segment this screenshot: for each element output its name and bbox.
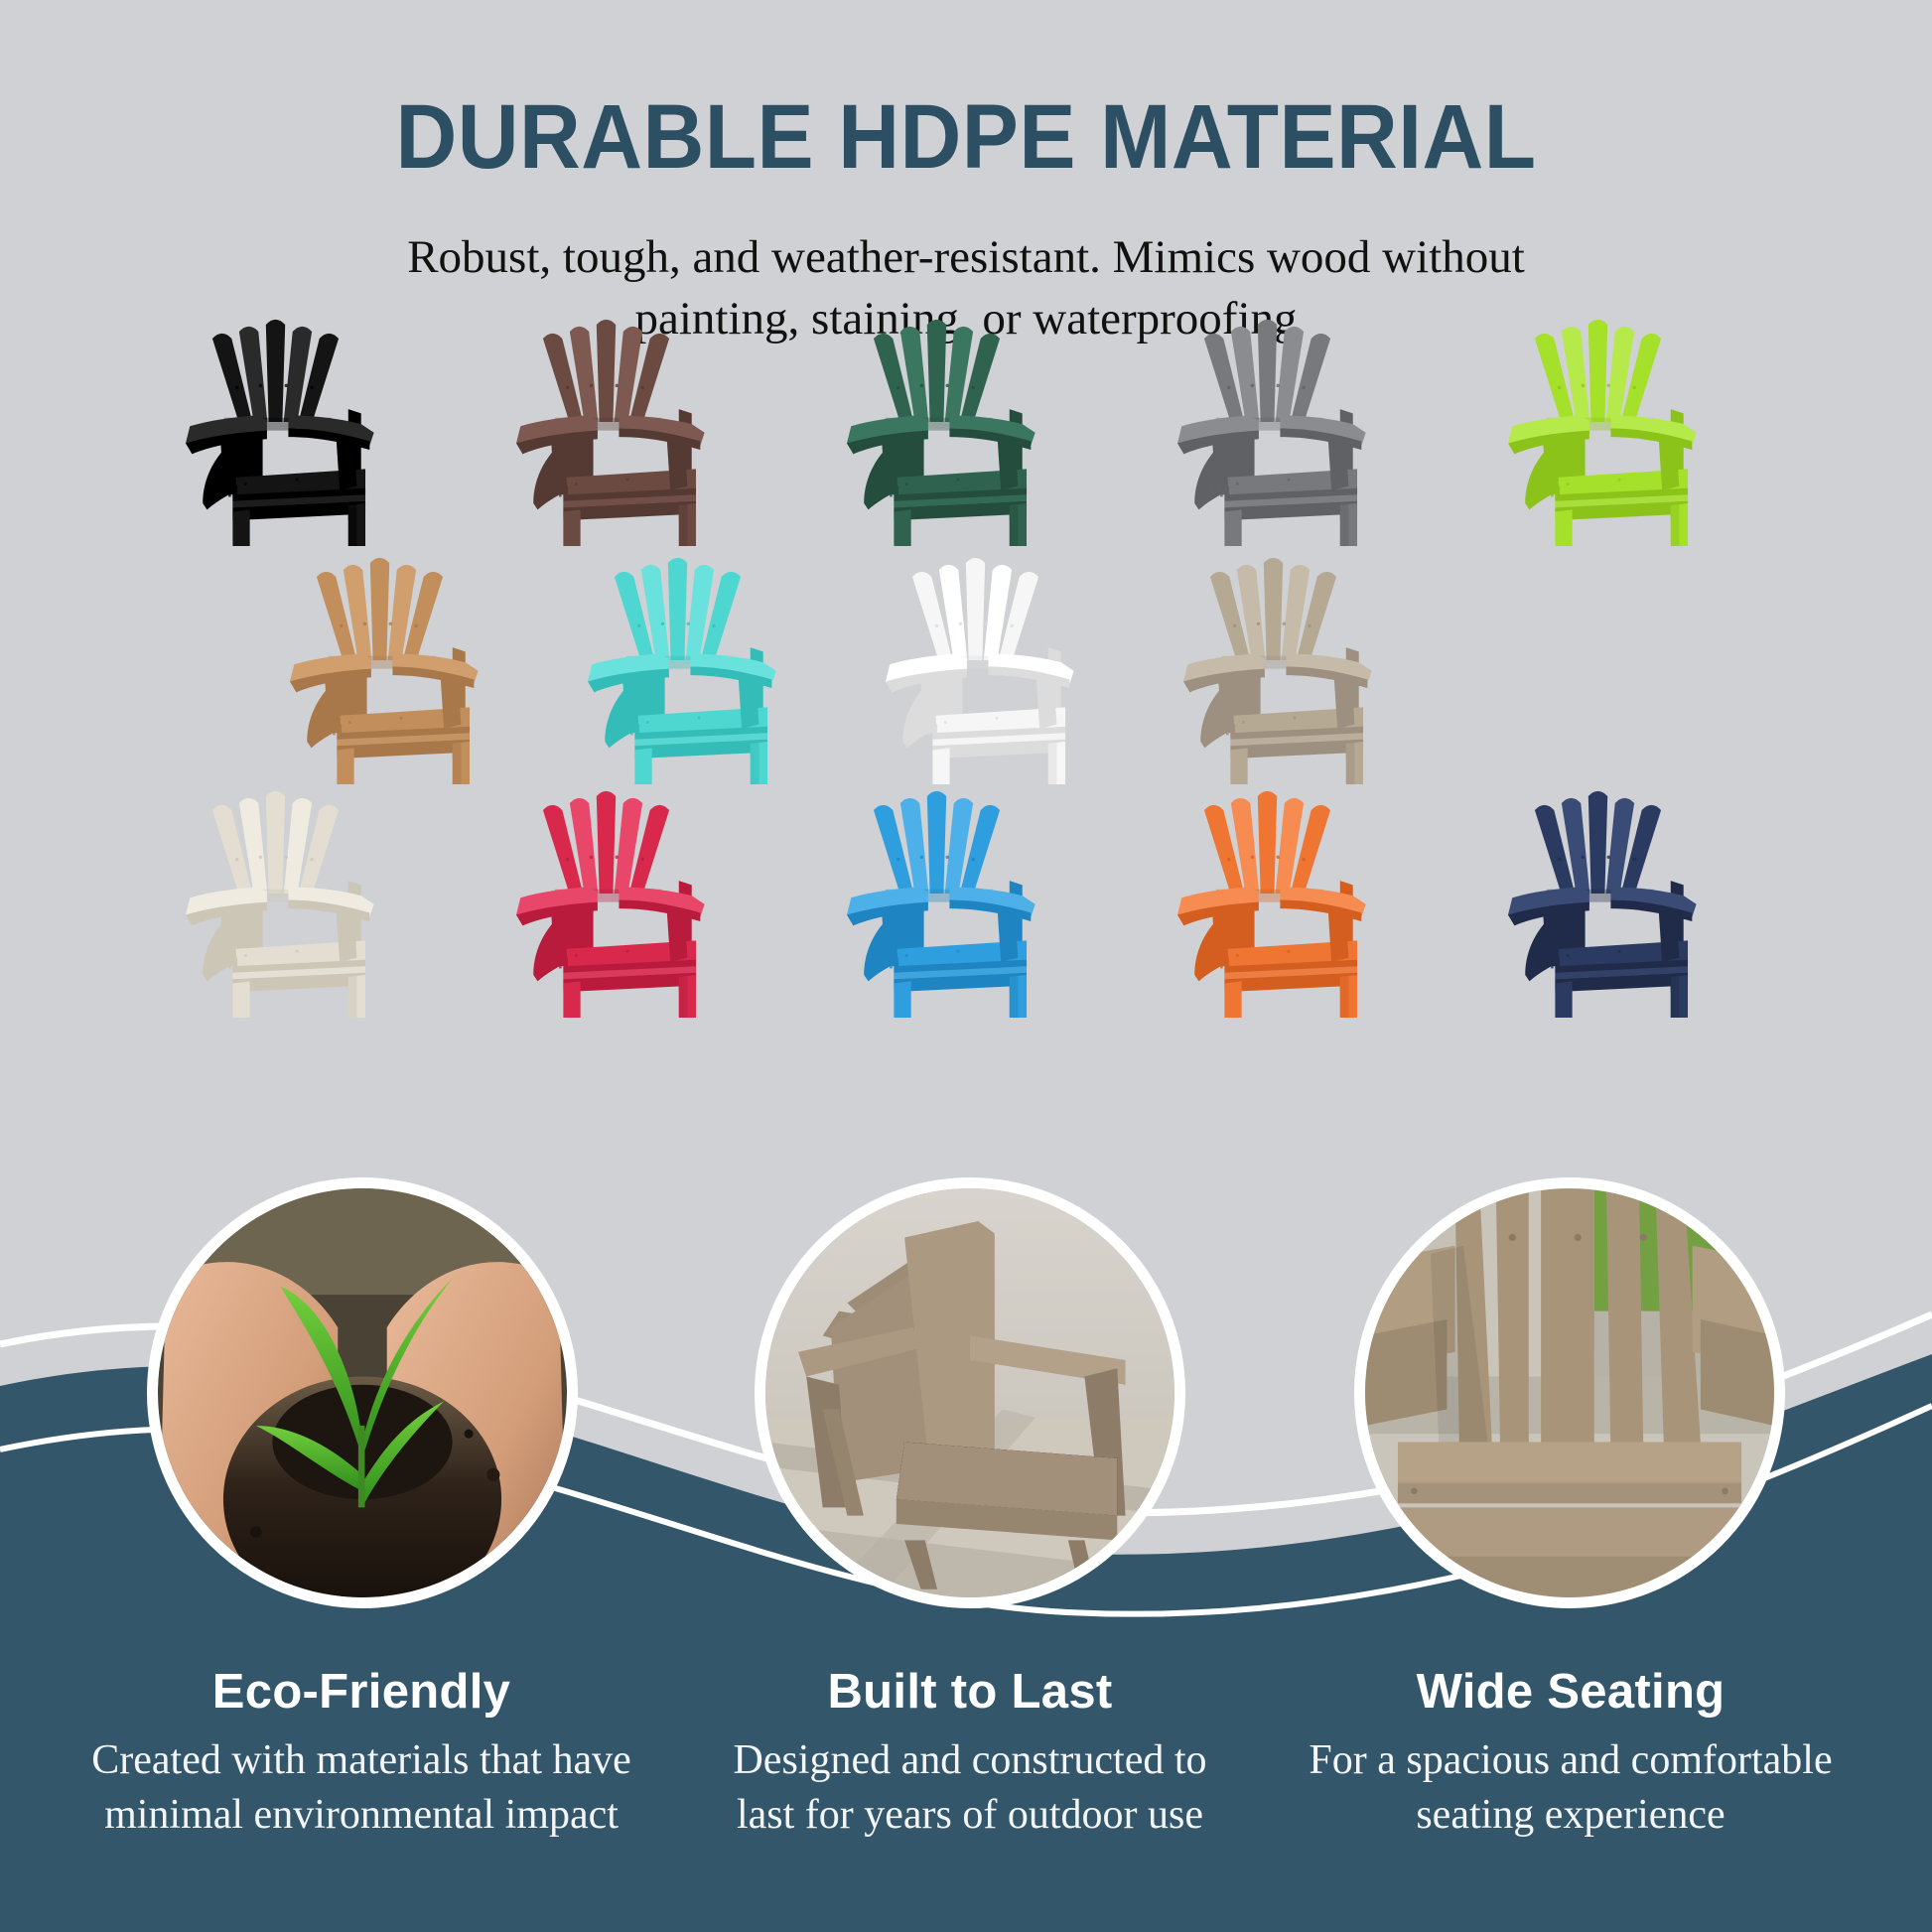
feature-body: Designed and constructed to last for yea… [652, 1733, 1288, 1844]
feature-body-line-2: minimal environmental impact [44, 1788, 679, 1843]
chair-swatch-green[interactable] [810, 298, 1063, 546]
feature-body-line-1: For a spacious and comfortable [1253, 1733, 1888, 1788]
chair-swatch-brown[interactable] [480, 298, 733, 546]
chair-swatch-black[interactable] [149, 298, 402, 546]
feature-heading: Built to Last [652, 1664, 1288, 1720]
photo-wide-seat-closeup [1354, 1177, 1785, 1608]
chair-swatch-turquoise[interactable] [551, 536, 804, 784]
feature-block-wide-seating: Wide Seating For a spacious and comforta… [1253, 1664, 1888, 1844]
chair-swatch-teak-tan[interactable] [253, 536, 506, 784]
chair-swatch-white[interactable] [849, 536, 1102, 784]
chair-swatch-navy-blue[interactable] [1471, 769, 1725, 1018]
feature-body-line-1: Designed and constructed to [652, 1733, 1288, 1788]
chair-swatch-gray[interactable] [1141, 298, 1394, 546]
feature-block-built-to-last: Built to Last Designed and constructed t… [652, 1664, 1288, 1844]
chair-swatch-lime-green[interactable] [1471, 298, 1725, 546]
feature-heading: Wide Seating [1253, 1664, 1888, 1720]
chair-color-grid [0, 0, 1932, 1311]
feature-body: For a spacious and comfortable seating e… [1253, 1733, 1888, 1844]
feature-body-line-2: seating experience [1253, 1788, 1888, 1843]
chair-swatch-blue[interactable] [810, 769, 1063, 1018]
feature-block-eco-friendly: Eco-Friendly Created with materials that… [44, 1664, 679, 1844]
feature-heading: Eco-Friendly [44, 1664, 679, 1720]
photo-hands-holding-seedling [147, 1177, 578, 1608]
photo-taupe-chair-on-patio [755, 1177, 1185, 1608]
feature-body: Created with materials that have minimal… [44, 1733, 679, 1844]
infographic-canvas: DURABLE HDPE MATERIAL Robust, tough, and… [0, 0, 1932, 1932]
chair-swatch-orange[interactable] [1141, 769, 1394, 1018]
chair-swatch-red[interactable] [480, 769, 733, 1018]
chair-swatch-ivory[interactable] [149, 769, 402, 1018]
feature-body-line-1: Created with materials that have [44, 1733, 679, 1788]
feature-body-line-2: last for years of outdoor use [652, 1788, 1288, 1843]
chair-swatch-taupe[interactable] [1147, 536, 1400, 784]
